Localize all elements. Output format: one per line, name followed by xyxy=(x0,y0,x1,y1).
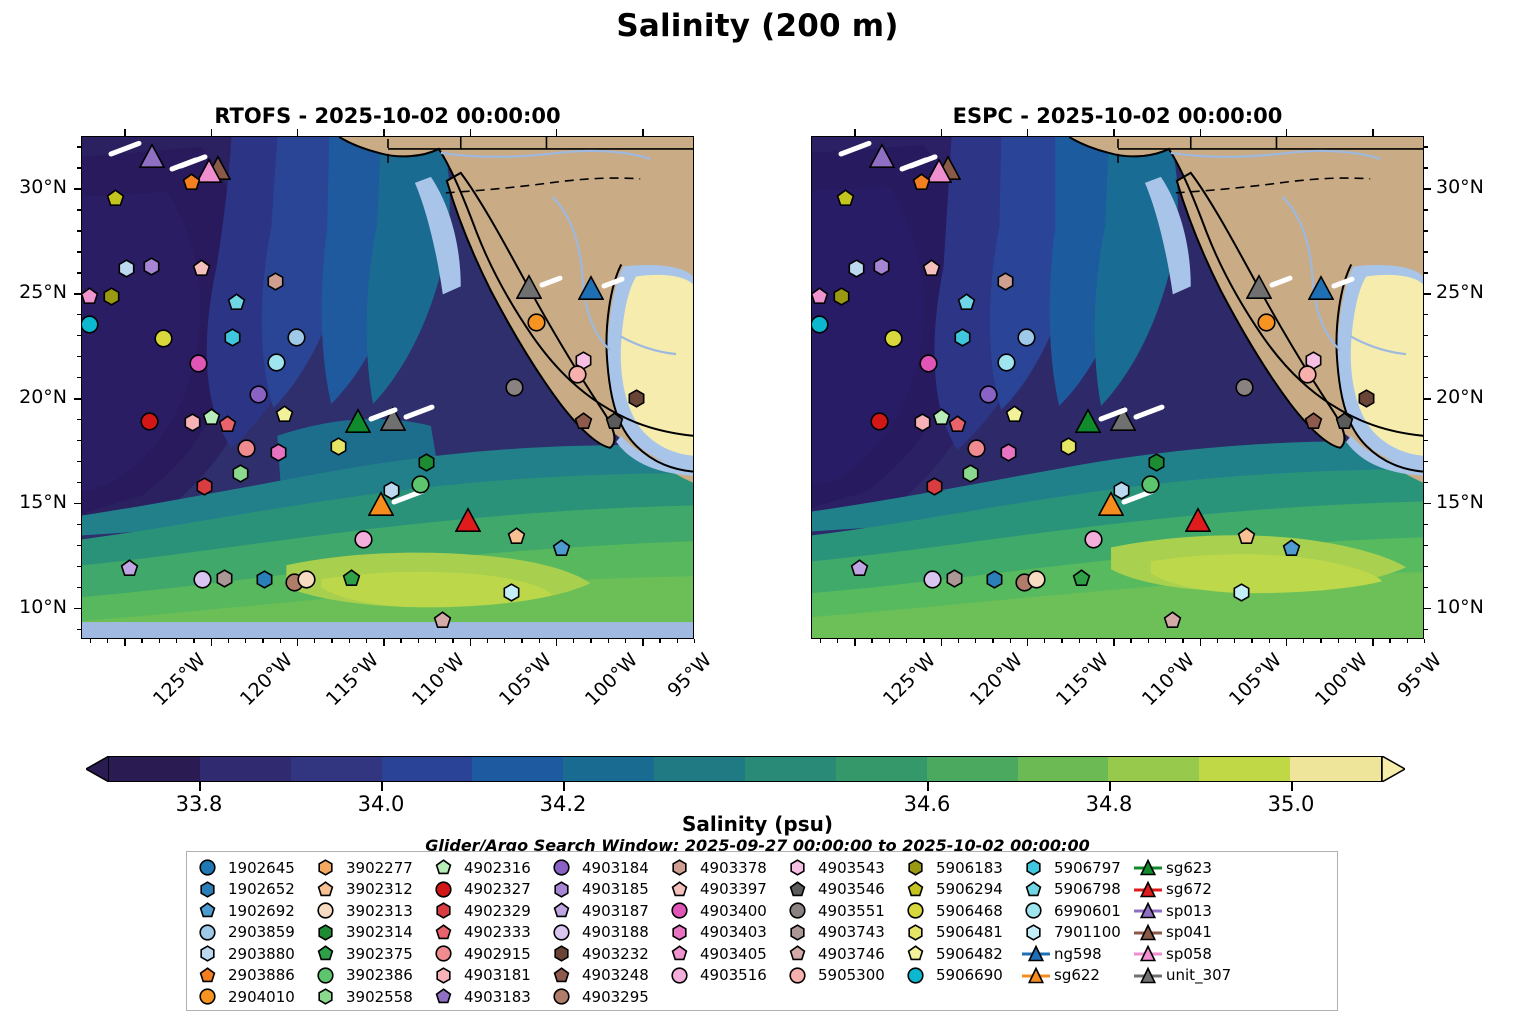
map-marker-5906183[interactable] xyxy=(832,287,851,306)
x-axis-label: 105°W xyxy=(494,649,555,710)
map-marker-2903859[interactable] xyxy=(287,328,306,347)
map-marker-4902915[interactable] xyxy=(237,439,256,458)
x-axis-tick xyxy=(211,639,213,646)
map-marker-ng598[interactable] xyxy=(1308,275,1334,301)
legend-item-5906482[interactable]: 5906482 xyxy=(903,943,1021,965)
y-axis-label: 20°N xyxy=(1436,386,1484,408)
x-axis-minor-tick xyxy=(694,639,695,643)
legend-item-4903248[interactable]: 4903248 xyxy=(549,965,667,987)
legend-item-3902312[interactable]: 3902312 xyxy=(313,879,431,901)
map-marker-2903880[interactable] xyxy=(847,259,866,278)
legend-item-1902692[interactable]: 1902692 xyxy=(195,900,313,922)
x-axis-minor-tick xyxy=(349,639,350,643)
circle-marker-icon xyxy=(903,965,933,986)
map-marker-4902333[interactable] xyxy=(218,415,237,434)
map-marker-5906468[interactable] xyxy=(884,329,903,348)
map-marker-4903378[interactable] xyxy=(996,272,1015,291)
legend-item-label: 4903543 xyxy=(815,859,885,877)
colorbar-axis-label: Salinity (psu) xyxy=(0,812,1515,836)
circle-marker-icon xyxy=(667,965,697,986)
x-axis-minor-tick xyxy=(331,639,332,643)
map-marker-2903880[interactable] xyxy=(117,259,136,278)
map-marker-4903187[interactable] xyxy=(120,559,139,578)
y-axis-minor-tick xyxy=(1424,629,1428,630)
legend-item-3902314[interactable]: 3902314 xyxy=(313,922,431,944)
map-marker-3902375[interactable] xyxy=(342,569,361,588)
map-marker-7901100[interactable] xyxy=(502,583,521,602)
legend-item-4903516[interactable]: 4903516 xyxy=(667,965,785,987)
map-marker-4903181[interactable] xyxy=(913,413,932,432)
legend-item-label: 2903880 xyxy=(225,945,295,963)
legend-box[interactable]: 1902645190265219026922903859290388029038… xyxy=(186,851,1338,1011)
x-axis-label: 95°W xyxy=(1394,649,1447,702)
map-marker-5906482[interactable] xyxy=(1005,405,1024,424)
legend-item-unit_307[interactable]: unit_307 xyxy=(1133,965,1245,987)
legend-item-ng598[interactable]: ng598 xyxy=(1021,943,1133,965)
legend-item-sp041[interactable]: sp041 xyxy=(1133,922,1245,944)
y-axis-minor-tick xyxy=(1424,440,1428,441)
map-marker-sp013[interactable] xyxy=(139,143,165,169)
map-marker-4903184[interactable] xyxy=(249,385,268,404)
legend-item-sg672[interactable]: sg672 xyxy=(1133,879,1245,901)
pentagon-marker-icon xyxy=(785,943,815,964)
map-marker-4903397[interactable] xyxy=(192,259,211,278)
y-axis-minor-tick xyxy=(1424,545,1428,546)
map-marker-5906797[interactable] xyxy=(953,328,972,347)
x-axis-minor-tick xyxy=(1303,639,1304,643)
legend-item-label: 4903248 xyxy=(579,966,649,984)
legend-item-label: 4903551 xyxy=(815,902,885,920)
map-marker-5906481[interactable] xyxy=(329,437,348,456)
glider-triangle-icon xyxy=(1133,922,1163,943)
map-marker-1902692[interactable] xyxy=(1282,539,1301,558)
map-marker-7901100[interactable] xyxy=(1232,583,1251,602)
legend-item-label: 4902329 xyxy=(461,902,531,920)
colorbar-tick xyxy=(1291,782,1293,791)
map-marker-4903516[interactable] xyxy=(1084,530,1103,549)
colorbar-band xyxy=(654,757,745,781)
legend-item-4903543[interactable]: 4903543 xyxy=(785,857,903,879)
map-marker-4903187[interactable] xyxy=(850,559,869,578)
y-axis-tick xyxy=(1424,293,1431,295)
hexagon-marker-icon xyxy=(313,857,343,878)
map-marker-5906797[interactable] xyxy=(223,328,242,347)
map-marker-3902314[interactable] xyxy=(1147,453,1166,472)
glider-triangle-icon xyxy=(1021,943,1051,964)
map-marker-4903248[interactable] xyxy=(574,412,593,431)
legend-item-4903403[interactable]: 4903403 xyxy=(667,922,785,944)
hexagon-marker-icon xyxy=(667,857,697,878)
x-axis-minor-tick xyxy=(1096,639,1097,643)
hexagon-marker-icon xyxy=(785,922,815,943)
y-axis-minor-tick xyxy=(77,146,81,147)
map-marker-6990601[interactable] xyxy=(997,353,1016,372)
colorbar[interactable]: 33.834.034.234.634.835.0 xyxy=(86,756,1404,782)
map-marker-4903185[interactable] xyxy=(142,257,161,276)
y-axis-minor-tick xyxy=(1424,230,1428,231)
x-axis-tick-top xyxy=(297,129,299,136)
map-marker-5906183[interactable] xyxy=(102,287,121,306)
legend-item-label: 4902915 xyxy=(461,945,531,963)
legend-item-label: 4903185 xyxy=(579,880,649,898)
x-axis-minor-tick xyxy=(608,639,609,643)
map-marker-4903400[interactable] xyxy=(189,354,208,373)
page-title: Salinity (200 m) xyxy=(0,8,1515,44)
colorbar-band xyxy=(563,757,654,781)
map-marker-5905300[interactable] xyxy=(568,365,587,384)
legend-item-4903743[interactable]: 4903743 xyxy=(785,922,903,944)
y-axis-tick xyxy=(74,503,81,505)
map-marker-4903232[interactable] xyxy=(1357,389,1376,408)
x-axis-minor-tick xyxy=(452,639,453,643)
legend-item-4902915[interactable]: 4902915 xyxy=(431,943,549,965)
legend-item-label: 4903743 xyxy=(815,923,885,941)
legend-item-4903184[interactable]: 4903184 xyxy=(549,857,667,879)
legend-item-4903378[interactable]: 4903378 xyxy=(667,857,785,879)
map-marker-5906482[interactable] xyxy=(275,405,294,424)
map-marker-4902915[interactable] xyxy=(967,439,986,458)
circle-marker-icon xyxy=(195,857,225,878)
map-marker-4902327[interactable] xyxy=(870,412,889,431)
legend-item-3902375[interactable]: 3902375 xyxy=(313,943,431,965)
map-marker-unit_307b[interactable] xyxy=(516,274,542,300)
x-axis-minor-tick xyxy=(573,639,574,643)
x-axis-minor-tick xyxy=(1061,639,1062,643)
legend-item-label: 3902277 xyxy=(343,859,413,877)
map-marker-3902314[interactable] xyxy=(417,453,436,472)
legend-item-4903546[interactable]: 4903546 xyxy=(785,879,903,901)
map-marker-sg623[interactable] xyxy=(345,408,371,434)
legend-item-4903185[interactable]: 4903185 xyxy=(549,879,667,901)
legend-item-4903232[interactable]: 4903232 xyxy=(549,943,667,965)
x-axis-minor-tick xyxy=(487,639,488,643)
x-axis-label: 125°W xyxy=(879,649,940,710)
pentagon-marker-icon xyxy=(431,857,461,878)
legend-item-3902558[interactable]: 3902558 xyxy=(313,986,431,1008)
map-marker-3902386[interactable] xyxy=(411,475,430,494)
y-axis-tick xyxy=(1424,188,1431,190)
legend-item-4903183[interactable]: 4903183 xyxy=(431,986,549,1008)
x-axis-tick xyxy=(556,639,558,646)
panel-title-rtofs: RTOFS - 2025-10-02 00:00:00 xyxy=(81,104,694,128)
legend-item-label: 4903405 xyxy=(697,945,767,963)
legend-item-4903181[interactable]: 4903181 xyxy=(431,965,549,987)
x-axis-tick-top xyxy=(383,129,385,136)
legend-item-label: 5906797 xyxy=(1051,859,1121,877)
x-axis-minor-tick xyxy=(1148,639,1149,643)
map-marker-4902333[interactable] xyxy=(948,415,967,434)
map-marker-2903880b[interactable] xyxy=(382,481,401,500)
map-marker-unit_307b[interactable] xyxy=(1246,274,1272,300)
legend-item-sp058[interactable]: sp058 xyxy=(1133,943,1245,965)
x-axis-minor-tick xyxy=(820,639,821,643)
x-axis-label: 100°W xyxy=(1311,649,1372,710)
map-marker-5906294[interactable] xyxy=(836,189,855,208)
y-axis-tick xyxy=(74,398,81,400)
glider-triangle-icon xyxy=(1133,900,1163,921)
pentagon-marker-icon xyxy=(785,879,815,900)
map-marker-1902652[interactable] xyxy=(985,570,1004,589)
legend-item-label: 4902327 xyxy=(461,880,531,898)
map-marker-2904010[interactable] xyxy=(527,313,546,332)
y-axis-label: 30°N xyxy=(1436,176,1484,198)
legend-item-label: 5906468 xyxy=(933,902,1003,920)
map-marker-4903403[interactable] xyxy=(999,443,1018,462)
y-axis-minor-tick xyxy=(1424,272,1428,273)
map-marker-4903400[interactable] xyxy=(919,354,938,373)
x-axis-minor-tick xyxy=(992,639,993,643)
legend-item-label: 1902652 xyxy=(225,880,295,898)
x-axis-minor-tick xyxy=(176,639,177,643)
y-axis-minor-tick xyxy=(1424,209,1428,210)
map-marker-4903405[interactable] xyxy=(81,287,99,306)
legend-item-label: 4903378 xyxy=(697,859,767,877)
legend-item-2903880[interactable]: 2903880 xyxy=(195,943,313,965)
map-marker-4903232[interactable] xyxy=(627,389,646,408)
legend-item-label: 4903400 xyxy=(697,902,767,920)
map-marker-4903184[interactable] xyxy=(979,385,998,404)
map-marker-5906690[interactable] xyxy=(811,315,829,334)
circle-marker-icon xyxy=(195,986,225,1007)
legend-item-2904010[interactable]: 2904010 xyxy=(195,986,313,1008)
y-axis-minor-tick xyxy=(1424,377,1428,378)
x-axis-minor-tick xyxy=(435,639,436,643)
legend-item-4903187[interactable]: 4903187 xyxy=(549,900,667,922)
x-axis-label: 95°W xyxy=(664,649,717,702)
map-panel-rtofs[interactable] xyxy=(81,136,694,639)
legend-item-label: 3902558 xyxy=(343,988,413,1006)
legend-item-3902386[interactable]: 3902386 xyxy=(313,965,431,987)
hexagon-marker-icon xyxy=(903,857,933,878)
legend-item-4903746[interactable]: 4903746 xyxy=(785,943,903,965)
y-axis-minor-tick xyxy=(77,356,81,357)
legend-item-5906797[interactable]: 5906797 xyxy=(1021,857,1133,879)
map-marker-sg672[interactable] xyxy=(1185,507,1211,533)
legend-item-2903859[interactable]: 2903859 xyxy=(195,922,313,944)
map-marker-4903403[interactable] xyxy=(269,443,288,462)
map-marker-4902329[interactable] xyxy=(925,477,944,496)
map-marker-sp013[interactable] xyxy=(869,143,895,169)
map-marker-3902386[interactable] xyxy=(1141,475,1160,494)
legend-item-label: 2904010 xyxy=(225,988,295,1006)
y-axis-minor-tick xyxy=(77,167,81,168)
x-axis-minor-tick xyxy=(400,639,401,643)
map-marker-4903746[interactable] xyxy=(1163,611,1182,630)
legend-item-4902329[interactable]: 4902329 xyxy=(431,900,549,922)
pentagon-marker-icon xyxy=(549,965,579,986)
legend-item-5906294[interactable]: 5906294 xyxy=(903,879,1021,901)
map-marker-5906481[interactable] xyxy=(1059,437,1078,456)
legend-item-label: 4903183 xyxy=(461,988,531,1006)
y-axis-minor-tick xyxy=(77,461,81,462)
y-axis-label: 20°N xyxy=(0,386,67,408)
legend-item-4903400[interactable]: 4903400 xyxy=(667,900,785,922)
x-axis-minor-tick xyxy=(1079,639,1080,643)
map-marker-5906294[interactable] xyxy=(106,189,125,208)
x-axis-minor-tick xyxy=(1338,639,1339,643)
map-marker-2904010[interactable] xyxy=(1257,313,1276,332)
y-axis-minor-tick xyxy=(77,587,81,588)
x-axis-tick xyxy=(124,639,126,646)
colorbar-band xyxy=(291,757,382,781)
legend-item-4903405[interactable]: 4903405 xyxy=(667,943,785,965)
legend-item-4903397[interactable]: 4903397 xyxy=(667,879,785,901)
circle-marker-icon xyxy=(785,965,815,986)
map-marker-4903378[interactable] xyxy=(266,272,285,291)
legend-item-label: 5906482 xyxy=(933,945,1003,963)
map-marker-4902329[interactable] xyxy=(195,477,214,496)
legend-item-5906690[interactable]: 5906690 xyxy=(903,965,1021,987)
legend-item-label: 5906690 xyxy=(933,966,1003,984)
x-axis-tick-top xyxy=(642,129,644,136)
x-axis-minor-tick xyxy=(1165,639,1166,643)
x-axis-minor-tick xyxy=(889,639,890,643)
map-marker-4903397[interactable] xyxy=(922,259,941,278)
map-marker-4903746[interactable] xyxy=(433,611,452,630)
y-axis-tick xyxy=(1424,608,1431,610)
map-marker-6990601[interactable] xyxy=(267,353,286,372)
map-marker-4903743[interactable] xyxy=(945,569,964,588)
legend-item-4903188[interactable]: 4903188 xyxy=(549,922,667,944)
map-marker-4903188[interactable] xyxy=(923,570,942,589)
legend-item-5906183[interactable]: 5906183 xyxy=(903,857,1021,879)
hexagon-marker-icon xyxy=(313,986,343,1007)
hexagon-marker-icon xyxy=(195,943,225,964)
legend-item-label: sg623 xyxy=(1163,859,1212,877)
map-marker-sg623[interactable] xyxy=(1075,408,1101,434)
legend-item-sg623[interactable]: sg623 xyxy=(1133,857,1245,879)
observation-markers-espc[interactable] xyxy=(812,137,1423,638)
map-panel-espc[interactable] xyxy=(811,136,1424,639)
map-marker-5906468[interactable] xyxy=(154,329,173,348)
y-axis-minor-tick xyxy=(77,314,81,315)
legend-item-1902652[interactable]: 1902652 xyxy=(195,879,313,901)
map-marker-sg672[interactable] xyxy=(455,507,481,533)
y-axis-minor-tick xyxy=(77,335,81,336)
glider-triangle-icon xyxy=(1133,857,1163,878)
map-marker-4903551[interactable] xyxy=(1235,378,1254,397)
glider-triangle-icon xyxy=(1133,943,1163,964)
map-marker-1902692[interactable] xyxy=(552,539,571,558)
legend-item-5906481[interactable]: 5906481 xyxy=(903,922,1021,944)
map-marker-2903886[interactable] xyxy=(182,173,201,192)
legend-item-label: ng598 xyxy=(1051,945,1102,963)
map-marker-2903859[interactable] xyxy=(1017,328,1036,347)
map-marker-5906798[interactable] xyxy=(957,293,976,312)
legend-item-4903295[interactable]: 4903295 xyxy=(549,986,667,1008)
legend-item-4902327[interactable]: 4902327 xyxy=(431,879,549,901)
x-axis-minor-tick xyxy=(159,639,160,643)
legend-item-5905300[interactable]: 5905300 xyxy=(785,965,903,987)
map-marker-ng598[interactable] xyxy=(578,275,604,301)
map-marker-1902652[interactable] xyxy=(255,570,274,589)
map-marker-4903181[interactable] xyxy=(183,413,202,432)
map-marker-4903551[interactable] xyxy=(505,378,524,397)
x-axis-minor-tick xyxy=(245,639,246,643)
y-axis-minor-tick xyxy=(77,377,81,378)
y-axis-tick xyxy=(1424,503,1431,505)
legend-item-4902333[interactable]: 4902333 xyxy=(431,922,549,944)
legend-item-label: sp058 xyxy=(1163,945,1212,963)
map-marker-2903886[interactable] xyxy=(912,173,931,192)
legend-item-1902645[interactable]: 1902645 xyxy=(195,857,313,879)
legend-item-3902313[interactable]: 3902313 xyxy=(313,900,431,922)
y-axis-minor-tick xyxy=(1424,335,1428,336)
legend-item-6990601[interactable]: 6990601 xyxy=(1021,900,1133,922)
x-axis-label: 110°W xyxy=(408,649,469,710)
observation-markers-rtofs[interactable] xyxy=(82,137,693,638)
map-marker-3902375[interactable] xyxy=(1072,569,1091,588)
map-marker-4903516[interactable] xyxy=(354,530,373,549)
circle-marker-icon xyxy=(431,879,461,900)
map-marker-4903546[interactable] xyxy=(1335,412,1354,431)
x-axis-minor-tick xyxy=(1320,639,1321,643)
colorbar-band xyxy=(109,757,200,781)
x-axis-minor-tick xyxy=(1234,639,1235,643)
colorbar-tick xyxy=(1109,782,1111,791)
map-marker-5906690[interactable] xyxy=(81,315,99,334)
map-marker-4902327[interactable] xyxy=(140,412,159,431)
map-marker-3902558[interactable] xyxy=(961,464,980,483)
circle-marker-icon xyxy=(549,922,579,943)
legend-item-2903886[interactable]: 2903886 xyxy=(195,965,313,987)
y-axis-minor-tick xyxy=(77,230,81,231)
x-axis-minor-tick xyxy=(90,639,91,643)
legend-item-label: 4903397 xyxy=(697,880,767,898)
colorbar-band xyxy=(745,757,836,781)
legend-item-sp013[interactable]: sp013 xyxy=(1133,900,1245,922)
legend-item-4902316[interactable]: 4902316 xyxy=(431,857,549,879)
map-marker-5906798[interactable] xyxy=(227,293,246,312)
map-marker-4903185[interactable] xyxy=(872,257,891,276)
circle-marker-icon xyxy=(667,900,697,921)
legend-item-7901100[interactable]: 7901100 xyxy=(1021,922,1133,944)
legend-item-sg622[interactable]: sg622 xyxy=(1021,965,1133,987)
map-marker-3902313[interactable] xyxy=(1027,570,1046,589)
legend-item-3902277[interactable]: 3902277 xyxy=(313,857,431,879)
map-marker-5905300[interactable] xyxy=(1298,365,1317,384)
x-axis-minor-tick xyxy=(262,639,263,643)
map-marker-4903546[interactable] xyxy=(605,412,624,431)
map-marker-4903743[interactable] xyxy=(215,569,234,588)
hexagon-marker-icon xyxy=(785,857,815,878)
map-marker-4903188[interactable] xyxy=(193,570,212,589)
map-marker-3902313[interactable] xyxy=(297,570,316,589)
map-marker-2903880b[interactable] xyxy=(1112,481,1131,500)
legend-item-label: 4903746 xyxy=(815,945,885,963)
x-axis-tick-top xyxy=(211,129,213,136)
map-marker-4903248[interactable] xyxy=(1304,412,1323,431)
colorbar-gradient xyxy=(108,756,1382,782)
colorbar-band xyxy=(472,757,563,781)
x-axis-label: 110°W xyxy=(1138,649,1199,710)
x-axis-minor-tick xyxy=(590,639,591,643)
map-marker-3902312[interactable] xyxy=(1237,527,1256,546)
legend-item-4903551[interactable]: 4903551 xyxy=(785,900,903,922)
x-axis-minor-tick xyxy=(1044,639,1045,643)
legend-item-5906468[interactable]: 5906468 xyxy=(903,900,1021,922)
x-axis-minor-tick xyxy=(625,639,626,643)
map-marker-4903405[interactable] xyxy=(811,287,829,306)
x-axis-minor-tick xyxy=(1355,639,1356,643)
colorbar-tick xyxy=(381,782,383,791)
map-marker-3902558[interactable] xyxy=(231,464,250,483)
map-marker-3902312[interactable] xyxy=(507,527,526,546)
x-axis-minor-tick xyxy=(314,639,315,643)
legend-item-5906798[interactable]: 5906798 xyxy=(1021,879,1133,901)
x-axis-tick xyxy=(1113,639,1115,646)
x-axis-minor-tick xyxy=(923,639,924,643)
